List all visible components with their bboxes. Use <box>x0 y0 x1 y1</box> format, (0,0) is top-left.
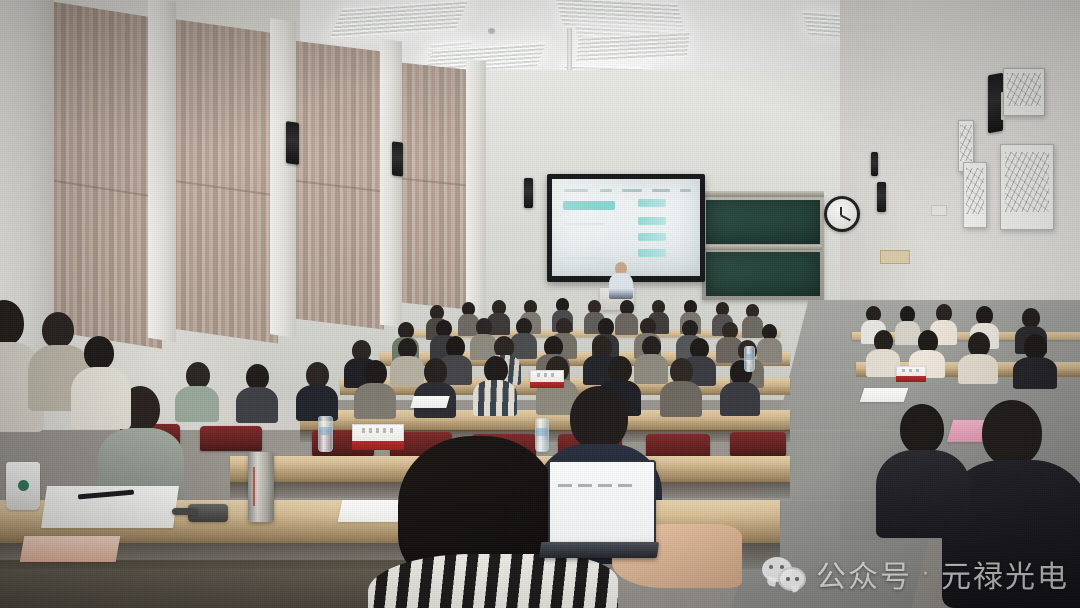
handout <box>860 388 909 402</box>
water-bottle <box>744 346 755 372</box>
blackboard <box>706 200 820 244</box>
laptop-screen-text-line <box>558 484 633 487</box>
attendee-head <box>982 400 1042 466</box>
watermark-label: 公众号 <box>816 552 912 596</box>
wall-speaker <box>286 121 299 165</box>
starbucks-logo-icon <box>18 480 29 491</box>
name-card <box>352 424 404 450</box>
laptop-keyboard-base <box>539 542 659 558</box>
chair-back <box>200 426 262 451</box>
attendee-torso <box>71 367 131 429</box>
glasses-arm <box>172 508 198 515</box>
wall-pillar <box>148 0 176 342</box>
name-card-base <box>896 376 926 382</box>
handout-stack <box>20 536 121 562</box>
attendee-head <box>900 404 944 454</box>
attendee-head <box>84 336 114 370</box>
chalk-rail <box>704 191 824 197</box>
watermark: 公众号 · 元禄光电 <box>762 552 1069 596</box>
window-curtains <box>396 62 472 310</box>
wall-speaker <box>871 152 878 176</box>
wall-pillar <box>466 59 486 317</box>
name-card-base <box>352 441 404 450</box>
smoke-detector <box>488 28 495 33</box>
presenter <box>608 262 634 296</box>
attendee-torso <box>876 450 970 538</box>
framed-poster <box>963 162 987 228</box>
wall-notice-plate <box>880 250 910 264</box>
attendee-head <box>570 386 628 450</box>
wall-speaker <box>392 141 403 176</box>
watermark-account-name: 元禄光电 <box>941 552 1069 596</box>
framed-poster <box>1000 144 1054 230</box>
wechat-logo-icon <box>762 557 806 591</box>
attendee-striped-top <box>368 554 618 608</box>
clock-hand-minute <box>840 214 850 220</box>
notebook <box>410 396 449 408</box>
wall-speaker <box>524 178 533 208</box>
thermos-bottle <box>248 452 274 522</box>
name-card-base <box>530 382 564 388</box>
presenter-torso <box>609 273 633 299</box>
loose-papers <box>338 500 403 522</box>
attendee-head <box>42 312 74 348</box>
chair-back <box>730 432 786 456</box>
wall-clock <box>824 196 860 232</box>
window-curtains <box>292 40 384 329</box>
laptop <box>548 460 656 548</box>
water-bottle <box>318 416 333 452</box>
wall-pillar <box>270 18 296 338</box>
water-bottle <box>535 418 549 452</box>
wall-speaker <box>877 182 886 212</box>
watermark-separator: · <box>922 562 931 587</box>
coffee-cup <box>6 462 40 510</box>
wall-pillar <box>380 39 402 328</box>
wall-notice-plate <box>931 205 947 216</box>
blackboard <box>706 252 820 296</box>
chalk-rail <box>704 245 822 250</box>
window-curtains <box>170 18 278 343</box>
framed-poster <box>1003 68 1045 116</box>
name-card <box>530 370 564 388</box>
name-card <box>896 366 926 382</box>
lecture-hall-photo: 公众号 · 元禄光电 <box>0 0 1080 608</box>
window-curtains <box>50 1 162 349</box>
